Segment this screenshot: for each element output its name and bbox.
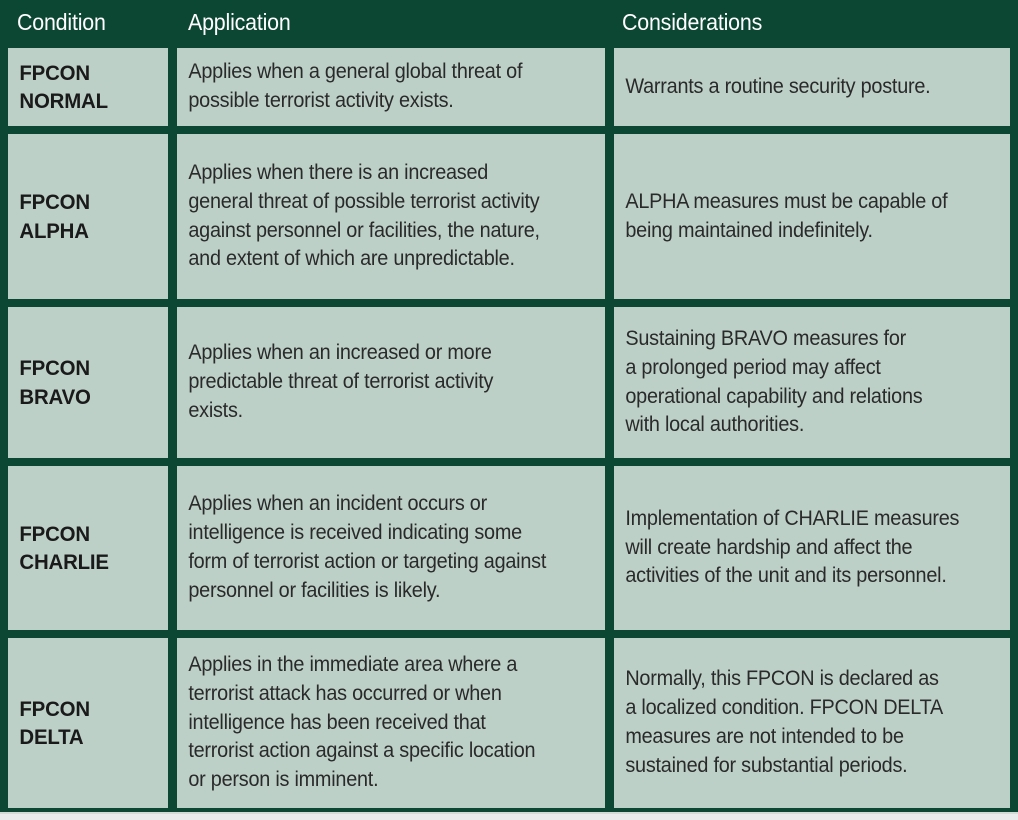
cell-considerations-normal: Warrants a routine security posture. (614, 48, 1010, 126)
cell-considerations-delta: Normally, this FPCON is declared as a lo… (614, 638, 1010, 808)
considerations-text: Normally, this FPCON is declared as a lo… (614, 665, 988, 781)
cell-condition-normal: FPCON NORMAL (8, 48, 168, 126)
condition-label: FPCON CHARLIE (8, 520, 160, 577)
application-text: Applies in the immediate area where a te… (177, 651, 581, 796)
bottom-edge-line (0, 812, 1018, 814)
page-bottom-edge (0, 812, 1018, 820)
table-row: FPCON ALPHA Applies when there is an inc… (0, 130, 1018, 303)
table-body: FPCON NORMAL Applies when a general glob… (0, 44, 1018, 812)
column-header-condition: Condition (17, 11, 106, 34)
application-text: Applies when a general global threat of … (177, 58, 581, 116)
table-row: FPCON NORMAL Applies when a general glob… (0, 44, 1018, 130)
condition-label: FPCON BRAVO (8, 354, 160, 411)
cell-condition-delta: FPCON DELTA (8, 638, 168, 808)
cell-condition-alpha: FPCON ALPHA (8, 134, 168, 299)
cell-considerations-charlie: Implementation of CHARLIE measures will … (614, 466, 1010, 630)
condition-label: FPCON ALPHA (8, 188, 160, 245)
condition-label: FPCON DELTA (8, 695, 160, 752)
application-text: Applies when an incident occurs or intel… (177, 490, 581, 606)
considerations-text: ALPHA measures must be capable of being … (614, 188, 988, 246)
column-header-application: Application (188, 11, 291, 34)
table-row: FPCON BRAVO Applies when an increased or… (0, 303, 1018, 462)
cell-condition-bravo: FPCON BRAVO (8, 307, 168, 458)
cell-application-alpha: Applies when there is an increased gener… (177, 134, 605, 299)
condition-label: FPCON NORMAL (8, 59, 160, 116)
cell-condition-charlie: FPCON CHARLIE (8, 466, 168, 630)
cell-application-charlie: Applies when an incident occurs or intel… (177, 466, 605, 630)
application-text: Applies when an increased or more predic… (177, 339, 581, 426)
cell-considerations-bravo: Sustaining BRAVO measures for a prolonge… (614, 307, 1010, 458)
fpcon-table: Condition Application Considerations FPC… (0, 0, 1018, 820)
considerations-text: Implementation of CHARLIE measures will … (614, 505, 988, 592)
considerations-text: Sustaining BRAVO measures for a prolonge… (614, 325, 988, 441)
table-header-row: Condition Application Considerations (0, 0, 1018, 44)
cell-application-normal: Applies when a general global threat of … (177, 48, 605, 126)
considerations-text: Warrants a routine security posture. (614, 73, 988, 102)
cell-application-bravo: Applies when an increased or more predic… (177, 307, 605, 458)
cell-considerations-alpha: ALPHA measures must be capable of being … (614, 134, 1010, 299)
application-text: Applies when there is an increased gener… (177, 159, 581, 275)
table-row: FPCON DELTA Applies in the immediate are… (0, 634, 1018, 812)
cell-application-delta: Applies in the immediate area where a te… (177, 638, 605, 808)
column-header-considerations: Considerations (622, 11, 762, 34)
table-row: FPCON CHARLIE Applies when an incident o… (0, 462, 1018, 634)
